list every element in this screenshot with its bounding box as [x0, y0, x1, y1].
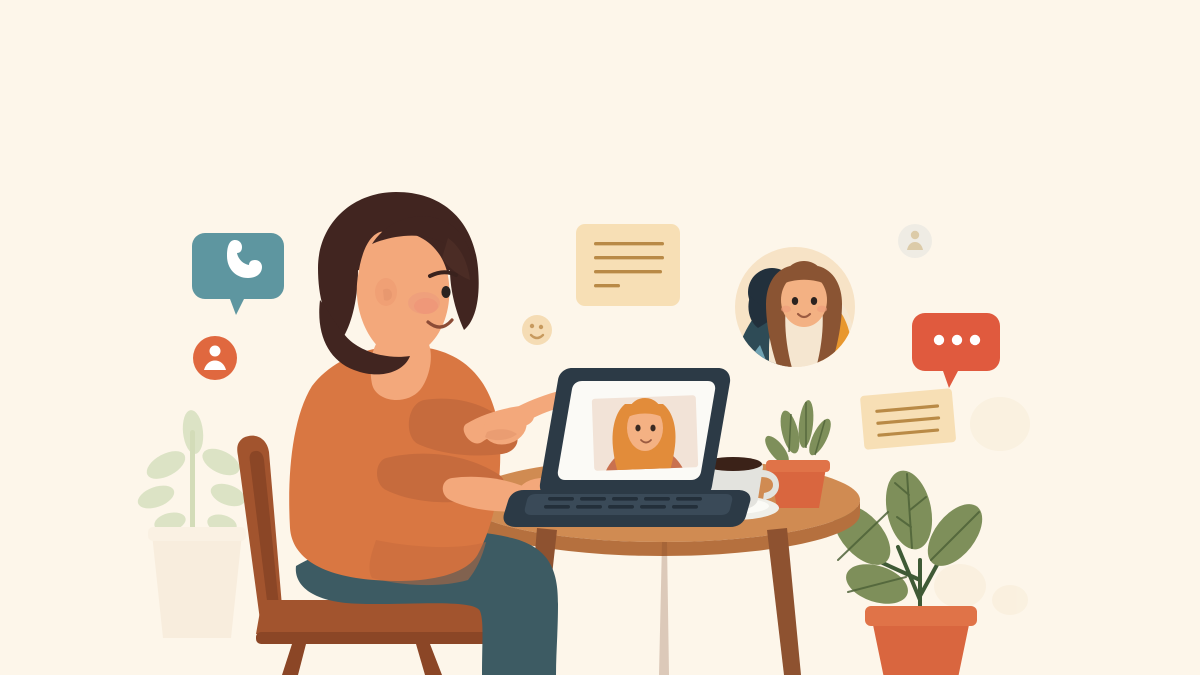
note-card-secondary [860, 388, 956, 450]
scene-illustration [0, 0, 1200, 675]
emoji-badge-beige [522, 315, 552, 345]
typing-dots-icon [934, 335, 980, 345]
user-badge-grey [898, 224, 932, 258]
note-card-primary [576, 224, 680, 306]
user-badge-orange [193, 336, 237, 380]
illustration-slide: Getting your first customers for a home-… [0, 0, 1200, 675]
